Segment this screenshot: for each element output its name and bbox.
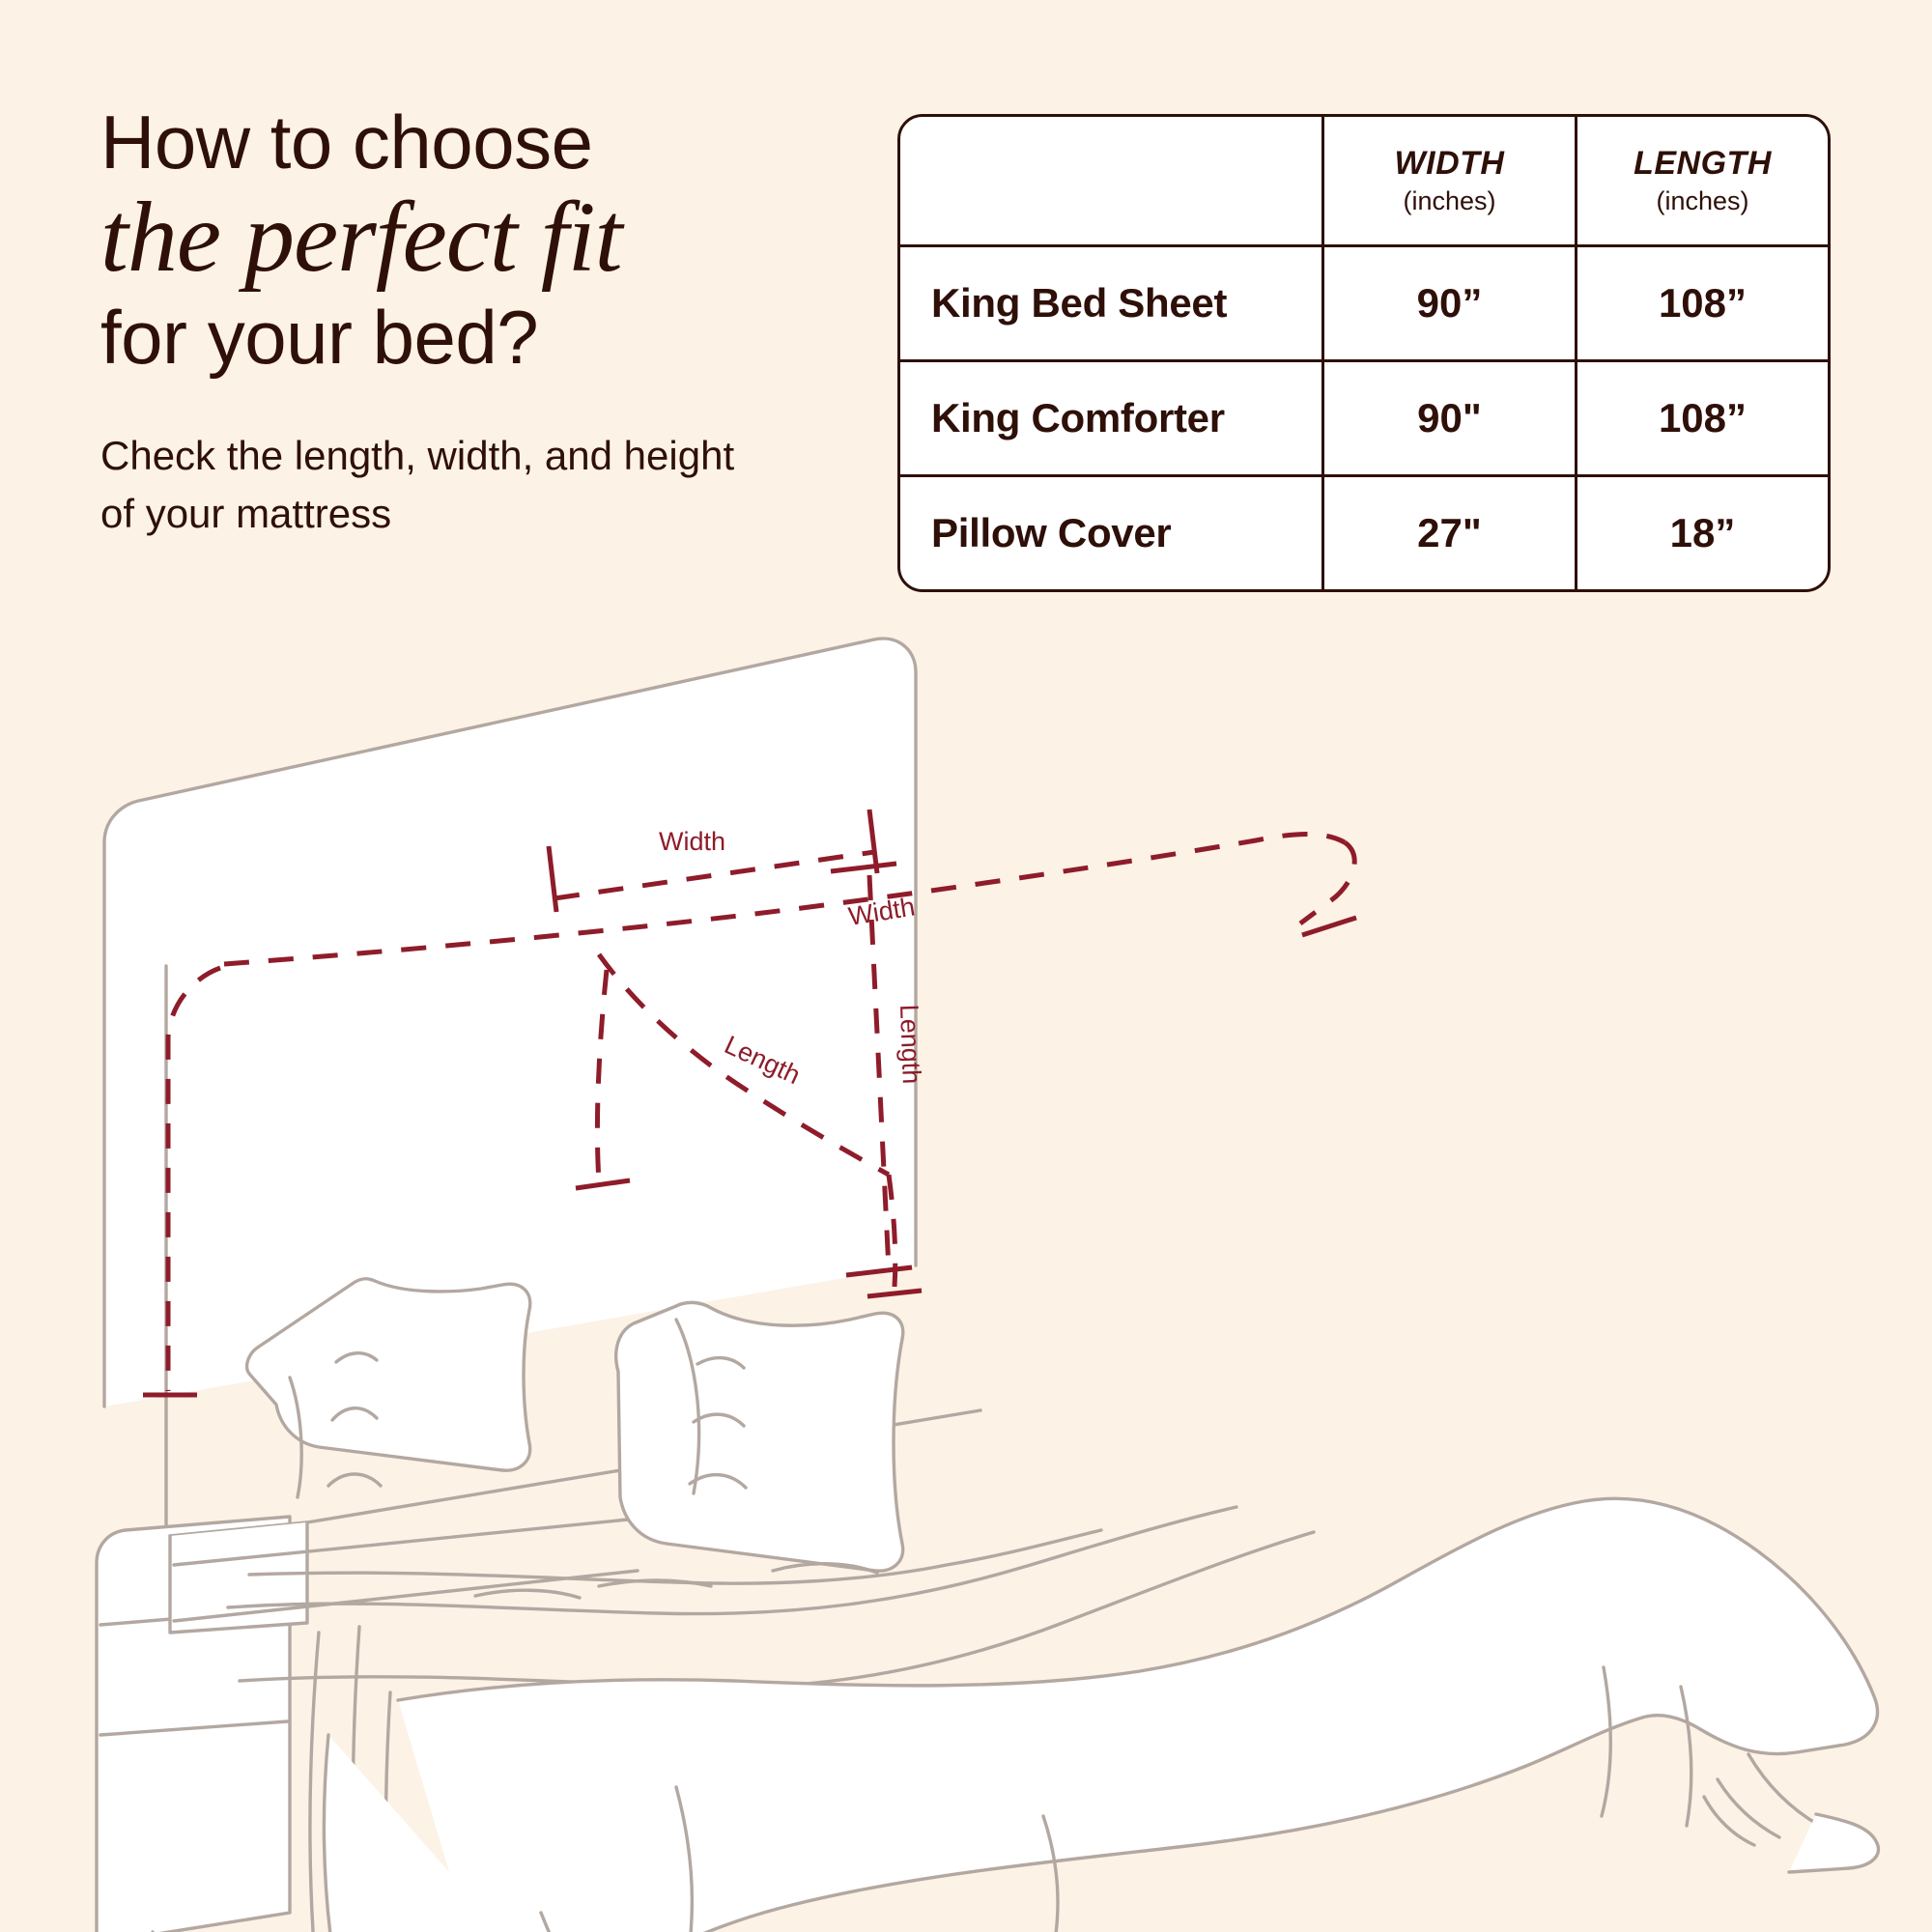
comforter-body — [398, 1498, 1877, 1932]
page-title-line-3: for your bed? — [100, 294, 835, 381]
width-value: 90" — [1417, 395, 1482, 441]
length-value: 108” — [1659, 280, 1747, 327]
comforter-fold-9 — [1748, 1754, 1820, 1826]
table-row: King Bed Sheet 90” 108” — [900, 244, 1828, 359]
mattress-front-face — [170, 1522, 307, 1633]
page-title-line-2-italic: the perfect fit — [100, 185, 835, 290]
size-chart-table: WIDTH (inches) LENGTH (inches) King Bed … — [897, 114, 1831, 592]
comforter-width-tick-right — [1302, 918, 1356, 935]
pillow-front-right — [616, 1302, 903, 1571]
item-label: King Bed Sheet — [931, 280, 1227, 327]
table-cell-item-name: King Bed Sheet — [900, 247, 1321, 359]
table-cell-item-name: King Comforter — [900, 362, 1321, 474]
column-title-length: LENGTH — [1634, 144, 1772, 183]
table-cell-length: 108” — [1575, 362, 1828, 474]
table-cell-width: 90” — [1321, 247, 1575, 359]
table-header-cell-width: WIDTH (inches) — [1321, 117, 1575, 244]
table-cell-width: 90" — [1321, 362, 1575, 474]
length-value: 108” — [1659, 395, 1747, 441]
table-row: King Comforter 90" 108” — [900, 359, 1828, 474]
bed-illustration-svg: Width Length Width Length — [0, 541, 1932, 1932]
width-value: 90” — [1417, 280, 1483, 327]
table-header-cell-length: LENGTH (inches) — [1575, 117, 1828, 244]
pillow-back-left-fold-c — [328, 1474, 381, 1486]
pillow-length-label: Length — [895, 1004, 926, 1085]
table-cell-length: 108” — [1575, 247, 1828, 359]
page-title-line-1: How to choose — [100, 100, 835, 184]
comforter-fold-11 — [1704, 1797, 1754, 1845]
flat-sheet-wrinkle-c — [475, 1590, 580, 1598]
item-label: King Comforter — [931, 395, 1225, 441]
comforter-corner-tip — [1789, 1814, 1878, 1872]
table-header-cell-blank — [900, 117, 1321, 244]
pillow-width-label: Width — [659, 827, 725, 856]
table-header-row: WIDTH (inches) LENGTH (inches) — [900, 117, 1828, 244]
column-unit-width: (inches) — [1403, 185, 1495, 217]
heading-block: How to choose the perfect fit for your b… — [100, 100, 835, 543]
comforter-length-tick-right — [867, 1291, 922, 1296]
page-subheading: Check the length, width, and height of y… — [100, 427, 777, 543]
comforter-width-dashed-curve-right — [1300, 842, 1354, 923]
bed-diagram: Width Length Width Length — [0, 541, 1932, 1932]
column-unit-length: (inches) — [1656, 185, 1748, 217]
column-title-width: WIDTH — [1395, 144, 1505, 183]
